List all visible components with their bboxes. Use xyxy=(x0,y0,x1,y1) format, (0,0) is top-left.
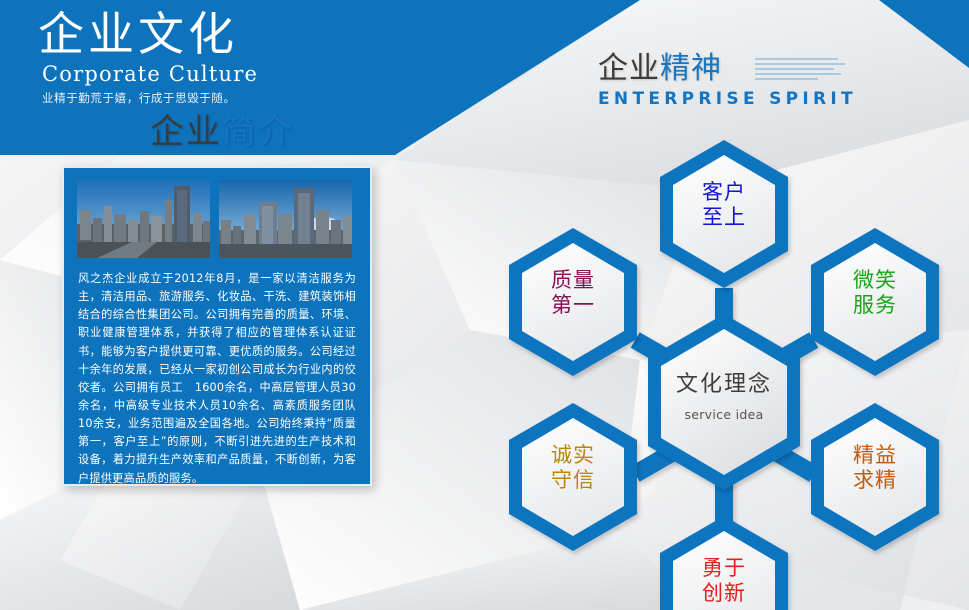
spirit-title-en: ENTERPRISE SPIRIT xyxy=(598,89,857,109)
header-banner-text: 企业文化 Corporate Culture 业精于勤荒于嬉，行成于思毁于随。 xyxy=(0,0,640,106)
intro-photo-row xyxy=(64,168,370,258)
hexagon-smile-service[interactable] xyxy=(811,228,939,376)
hexagon-excellence[interactable] xyxy=(811,403,939,551)
hexagon-center-label-cn: 文化理念 xyxy=(664,366,784,398)
skyscraper-towers-photo xyxy=(219,180,352,258)
hexagon-quality-first[interactable] xyxy=(509,228,637,376)
decorative-placeholder-text xyxy=(755,58,845,83)
spirit-title-prefix: 企业 xyxy=(598,51,660,86)
hexagon-innovation[interactable] xyxy=(660,516,788,610)
intro-section-title: 企业简介 xyxy=(150,112,294,153)
banner-subtitle: 业精于勤荒于嬉，行成于思毁于随。 xyxy=(42,90,640,106)
intro-title-suffix: 简介 xyxy=(222,112,294,152)
hexagon-cluster-graphic xyxy=(490,118,969,610)
spirit-section-header: 企业精神 ENTERPRISE SPIRIT xyxy=(598,52,857,109)
banner-title-en: Corporate Culture xyxy=(42,62,640,86)
banner-title-cn: 企业文化 xyxy=(38,8,640,61)
intro-title-prefix: 企业 xyxy=(150,112,222,152)
intro-panel: 风之杰企业成立于2012年8月，是一家以清洁服务为主，清洁用品、旅游服务、化妆品… xyxy=(62,166,372,486)
spirit-title-suffix: 精神 xyxy=(660,51,722,86)
intro-body-text: 风之杰企业成立于2012年8月，是一家以清洁服务为主，清洁用品、旅游服务、化妆品… xyxy=(64,258,370,488)
hexagon-customer-first[interactable] xyxy=(660,140,788,288)
hexagon-cluster: 客户 至上 微笑 服务 精益 求精 勇于 创新 诚实 守信 质量 第一 文化理念… xyxy=(490,118,969,610)
city-skyline-photo xyxy=(77,180,210,258)
hexagon-integrity[interactable] xyxy=(509,403,637,551)
hexagon-center-label-en: service idea xyxy=(654,407,794,422)
